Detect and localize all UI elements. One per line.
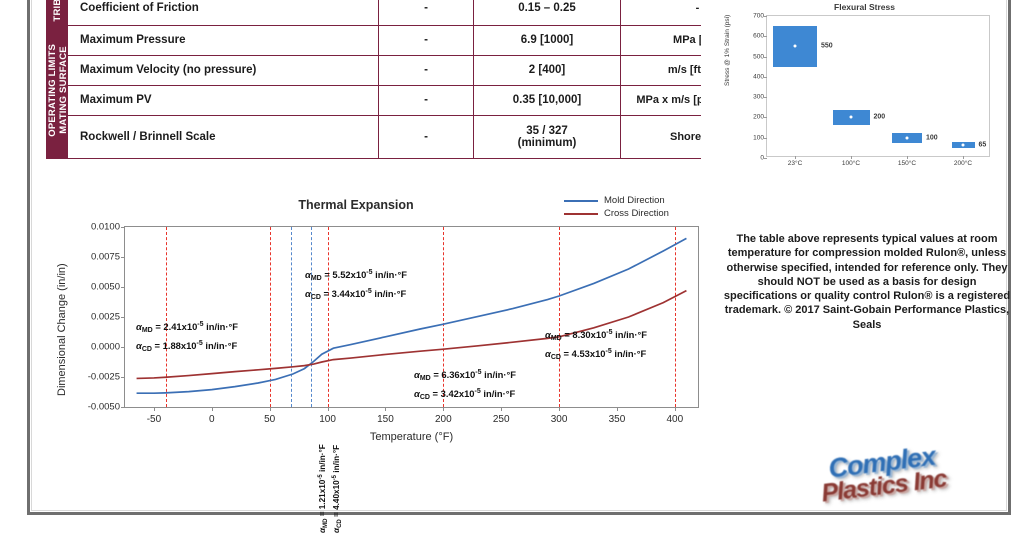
property-value: 0.15 – 0.25 [474, 0, 621, 25]
x-tick [212, 407, 213, 411]
y-tick-label: 700 [753, 13, 764, 20]
x-tick-label: 0 [209, 414, 215, 425]
chart-y-axis-label: Dimensional Change (in/in) [56, 263, 68, 396]
chart-legend: Mold Direction Cross Direction [564, 194, 734, 220]
property-col2: - [379, 55, 474, 85]
y-tick-label: 0.0100 [91, 222, 120, 233]
y-tick-label: 0.0075 [91, 252, 120, 263]
category-cell-operating-limits: OPERATING LIMITSMATING SURFACE [47, 25, 68, 158]
property-name: Coefficient of Friction [68, 0, 379, 25]
property-value: 35 / 327 [482, 125, 612, 137]
y-tick-label: 0.0050 [91, 282, 120, 293]
data-point [794, 45, 797, 48]
disclaimer-line: NOT be used as a basis for design [797, 276, 977, 288]
property-value: 2 [400] [474, 55, 621, 85]
property-value-note: (minimum) [482, 137, 612, 149]
chart-x-axis-label: Temperature (°F) [124, 431, 699, 443]
x-tick [963, 156, 964, 159]
property-name: Maximum Velocity (no pressure) [68, 55, 379, 85]
y-tick-label: 500 [753, 53, 764, 60]
chart-title: Thermal Expansion [226, 198, 486, 212]
x-tick-label: 50 [264, 414, 275, 425]
x-tick-label: 200°C [954, 160, 972, 167]
data-point [962, 143, 965, 146]
plot-area: 0.01000.00750.00500.00250.0000-0.0025-0.… [124, 226, 699, 408]
y-tick [764, 57, 767, 58]
y-tick-label: 600 [753, 33, 764, 40]
table-row: TRIBO Coefficient of Friction - 0.15 – 0… [47, 0, 702, 25]
property-col2: - [379, 25, 474, 55]
property-name: Maximum Pressure [68, 25, 379, 55]
table-row: Maximum Velocity (no pressure) - 2 [400]… [47, 55, 702, 85]
spec-table: TRIBO Coefficient of Friction - 0.15 – 0… [46, 0, 701, 170]
table-row: Rockwell / Brinnell Scale - 35 / 327 (mi… [47, 115, 702, 158]
y-tick-label: 0.0025 [91, 312, 120, 323]
legend-swatch-cross [564, 213, 598, 215]
y-tick [764, 97, 767, 98]
x-tick-label: 100 [319, 414, 336, 425]
data-point [850, 116, 853, 119]
y-tick [764, 16, 767, 17]
x-tick-label: -50 [147, 414, 161, 425]
properties-table: TRIBO Coefficient of Friction - 0.15 – 0… [46, 0, 701, 159]
data-label: 550 [821, 43, 833, 50]
legend-label: Mold Direction [604, 195, 665, 206]
x-tick [617, 407, 618, 411]
y-tick-label: 0.0000 [91, 342, 120, 353]
x-tick-label: 100°C [842, 160, 860, 167]
data-label: 200 [874, 114, 886, 121]
legend-swatch-mold [564, 200, 598, 202]
faint-background-text [150, 478, 410, 522]
document-page: TRIBO Coefficient of Friction - 0.15 – 0… [0, 0, 1032, 552]
category-label: TRIBO [52, 0, 63, 22]
legend-item-cross: Cross Direction [564, 207, 734, 220]
plot-area: 010020030040050060070023°C550100°C200150… [766, 15, 990, 157]
x-tick-label: 400 [667, 414, 684, 425]
property-value: 6.9 [1000] [474, 25, 621, 55]
y-tick [764, 117, 767, 118]
series-lines [125, 227, 698, 407]
x-tick-label: 250 [493, 414, 510, 425]
y-tick-label: 400 [753, 73, 764, 80]
x-tick [385, 407, 386, 411]
chart-title: Flexural Stress [722, 2, 1007, 12]
data-label: 65 [979, 141, 987, 148]
property-units: Shore C / - [621, 115, 702, 158]
property-value: 0.35 [10,000] [474, 85, 621, 115]
x-tick [907, 156, 908, 159]
legend-label: Cross Direction [604, 208, 669, 219]
disclaimer-line: specifications or quality control [724, 290, 890, 302]
property-col2: - [379, 85, 474, 115]
y-tick-label: -0.0025 [88, 372, 120, 383]
x-tick-label: 350 [609, 414, 626, 425]
x-tick-label: 200 [435, 414, 452, 425]
category-cell-tribo: TRIBO [47, 0, 68, 25]
x-tick-label: 300 [551, 414, 568, 425]
x-tick-label: 23°C [788, 160, 803, 167]
property-units: m/s [ft/min] [621, 55, 702, 85]
x-tick [795, 156, 796, 159]
disclaimer-text: The table above represents typical value… [722, 232, 1012, 332]
property-name: Rockwell / Brinnell Scale [68, 115, 379, 158]
annotation-ann-mid: αMD = 5.52x10-5 in/in·°FαCD = 3.44x10-5 … [305, 266, 407, 304]
data-point [906, 136, 909, 139]
property-col2: - [379, 115, 474, 158]
x-tick [851, 156, 852, 159]
category-label: OPERATING LIMITSMATING SURFACE [47, 44, 69, 137]
y-tick [764, 158, 767, 159]
chart-y-axis-label: Stress @ 1% Strain (psi) [724, 15, 731, 86]
x-tick-label: 150°C [898, 160, 916, 167]
x-tick-label: 150 [377, 414, 394, 425]
y-tick-label: 100 [753, 134, 764, 141]
y-tick [764, 138, 767, 139]
annotation-ann-left: αMD = 2.41x10-5 in/in·°FαCD = 1.88x10-5 … [136, 318, 238, 356]
table-row: OPERATING LIMITSMATING SURFACE Maximum P… [47, 25, 702, 55]
y-tick-label: 200 [753, 114, 764, 121]
property-units: MPa x m/s [psi x ft/min] [621, 85, 702, 115]
property-name: Maximum PV [68, 85, 379, 115]
y-tick [121, 407, 125, 408]
data-label: 100 [926, 134, 938, 141]
table-row: Maximum PV - 0.35 [10,000] MPa x m/s [ps… [47, 85, 702, 115]
y-tick-label: -0.0050 [88, 402, 120, 413]
x-tick [501, 407, 502, 411]
property-value-cell: 35 / 327 (minimum) [474, 115, 621, 158]
property-units: MPa [psi] [621, 25, 702, 55]
x-tick [559, 407, 560, 411]
annotation-ann-right: αMD = 8.30x10-5 in/in·°FαCD = 4.53x10-5 … [545, 326, 647, 364]
y-tick [764, 36, 767, 37]
x-tick [675, 407, 676, 411]
disclaimer-line: Saint-Gobain Performance Plastics, Seals [823, 304, 1009, 330]
disclaimer-line: The table above represents typical value… [736, 233, 966, 245]
x-tick [270, 407, 271, 411]
legend-item-mold: Mold Direction [564, 194, 734, 207]
property-col2: - [379, 0, 474, 25]
x-tick [154, 407, 155, 411]
property-units: - [621, 0, 702, 25]
flexural-stress-chart: Flexural Stress Stress @ 1% Strain (psi)… [722, 0, 1007, 180]
x-tick [328, 407, 329, 411]
y-tick-label: 300 [753, 94, 764, 101]
annotation-ann-bottom: αMD = 6.36x10-5 in/in·°FαCD = 3.42x10-5 … [414, 366, 516, 404]
y-tick [764, 77, 767, 78]
series-line-mold-direction [137, 238, 687, 393]
x-tick [443, 407, 444, 411]
